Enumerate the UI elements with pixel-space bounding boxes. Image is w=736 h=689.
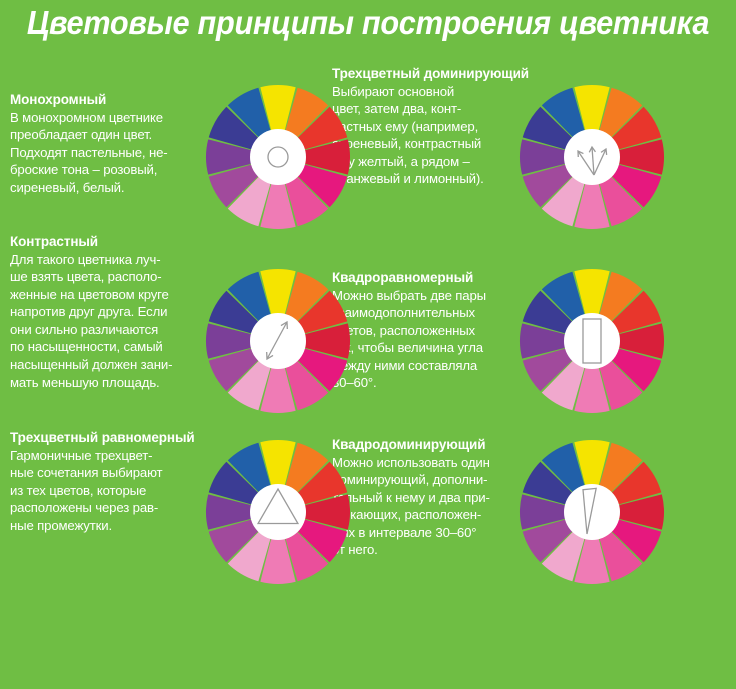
section-body-contrast: Для такого цветника луч- ше взять цвета,… bbox=[10, 251, 210, 392]
section-body-quad-uniform: Можно выбрать две пары взаимодополнитель… bbox=[332, 287, 537, 393]
color-wheel-tricolor-uniform bbox=[203, 437, 353, 587]
section-body-tricolor-uniform: Гармоничные трехцвет- ные сочетания выби… bbox=[10, 447, 205, 535]
section-title-quad-dominant: Квадродоминирующий bbox=[332, 437, 537, 453]
section-monochrome: Монохромный В монохромном цветнике преоб… bbox=[10, 92, 205, 196]
section-contrast: Контрастный Для такого цветника луч- ше … bbox=[10, 234, 210, 391]
wheel-hub bbox=[564, 313, 620, 369]
page-title: Цветовые принципы построения цветника bbox=[26, 4, 710, 42]
section-title-quad-uniform: Квадроравномерный bbox=[332, 270, 537, 286]
section-quad-dominant: Квадродоминирующий Можно использовать од… bbox=[332, 437, 537, 559]
section-tricolor-uniform: Трехцветный равномерный Гармоничные трех… bbox=[10, 430, 205, 534]
section-title-tricolor-dominant: Трехцветный доминирующий bbox=[332, 66, 532, 82]
infographic-page: Цветовые принципы построения цветника Мо… bbox=[0, 0, 736, 689]
color-wheel-quad-dominant bbox=[517, 437, 667, 587]
section-title-tricolor-uniform: Трехцветный равномерный bbox=[10, 430, 205, 446]
section-quad-uniform: Квадроравномерный Можно выбрать две пары… bbox=[332, 270, 537, 392]
wheel-hub bbox=[250, 484, 306, 540]
wheel-hub bbox=[250, 313, 306, 369]
color-wheel-quad-uniform bbox=[517, 266, 667, 416]
color-wheel-contrast bbox=[203, 266, 353, 416]
section-body-quad-dominant: Можно использовать один доминирующий, до… bbox=[332, 454, 537, 560]
color-wheel-monochrome bbox=[203, 82, 353, 232]
section-body-monochrome: В монохромном цветнике преобладает один … bbox=[10, 109, 205, 197]
color-wheel-tricolor-dominant bbox=[517, 82, 667, 232]
section-tricolor-dominant: Трехцветный доминирующий Выбирают основн… bbox=[332, 66, 532, 188]
section-title-monochrome: Монохромный bbox=[10, 92, 205, 108]
section-title-contrast: Контрастный bbox=[10, 234, 210, 250]
wheel-hub bbox=[564, 129, 620, 185]
wheel-hub bbox=[250, 129, 306, 185]
section-body-tricolor-dominant: Выбирают основной цвет, затем два, конт-… bbox=[332, 83, 532, 189]
